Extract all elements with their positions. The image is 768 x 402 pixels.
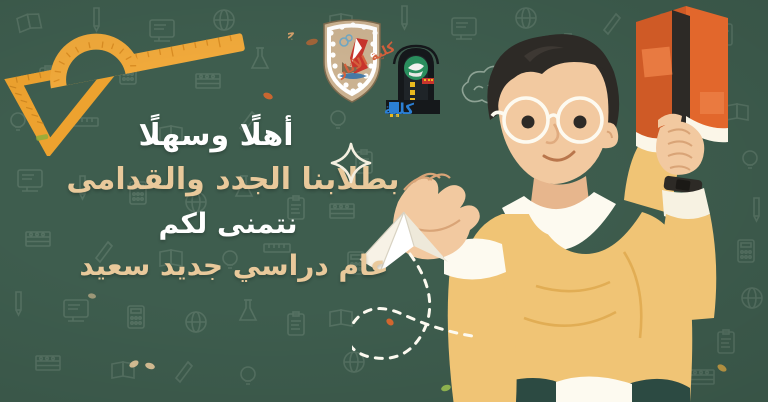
headline-line-happy-year: عام دراسي جديد سعيد — [0, 251, 470, 281]
eye-right — [574, 116, 587, 129]
svg-text:كلية: كلية — [384, 100, 414, 118]
headline-line-wish: نتمنى لكم — [0, 209, 470, 239]
four-point-star-icon — [330, 142, 372, 184]
headline-text-block: أهلًا وسهلًا بطلابنا الجدد والقدامى نتمن… — [0, 120, 470, 281]
protractor-icon — [42, 26, 141, 89]
svg-text:جامعة سوهاج: جامعة سوهاج — [288, 26, 297, 67]
headline-line-welcome: أهلًا وسهلًا — [0, 120, 470, 152]
eye-left — [522, 116, 535, 129]
headline-line-students: بطلابنا الجدد والقدامى — [0, 164, 470, 196]
welcome-banner: جامعة سوهاج — [0, 0, 768, 402]
university-name-text: جامعة سوهاج — [288, 26, 297, 67]
